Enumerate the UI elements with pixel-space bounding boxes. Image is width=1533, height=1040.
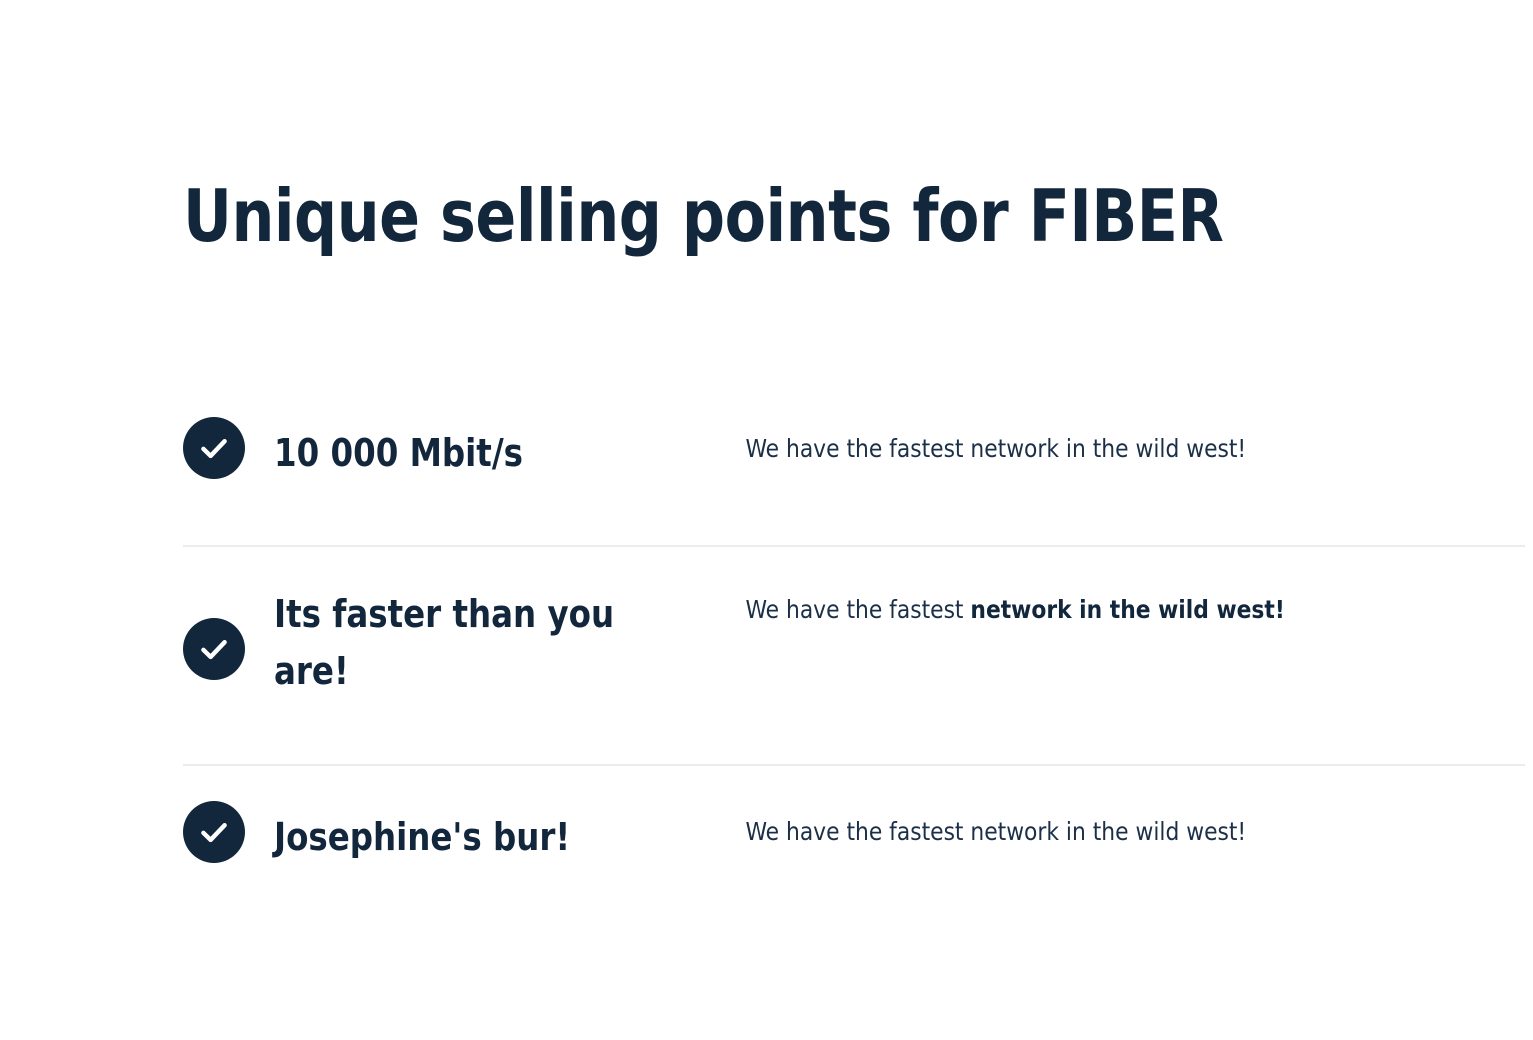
check-circle-icon — [183, 801, 245, 863]
usp-page: Unique selling points for FIBER 10 000 M… — [0, 0, 1533, 1040]
usp-description-text: We have the fastest — [745, 595, 970, 624]
usp-heading: 10 000 Mbit/s — [274, 415, 645, 482]
page-title: Unique selling points for FIBER — [183, 178, 1223, 256]
usp-description: We have the fastest network in the wild … — [664, 576, 1499, 627]
usp-description: We have the fastest network in the wild … — [664, 415, 1499, 466]
usp-description-emphasis: network in the wild west! — [970, 595, 1284, 624]
usp-description-text: We have the fastest network in the wild … — [745, 434, 1246, 463]
check-circle-icon — [183, 618, 245, 680]
usp-list: 10 000 Mbit/s We have the fastest networ… — [183, 390, 1525, 921]
usp-description: We have the fastest network in the wild … — [664, 799, 1499, 849]
usp-heading: Its faster than you are! — [274, 576, 645, 700]
list-item: Its faster than you are! We have the fas… — [183, 547, 1525, 764]
list-item: Josephine's bur! We have the fastest net… — [183, 766, 1525, 921]
list-item: 10 000 Mbit/s We have the fastest networ… — [183, 390, 1525, 545]
usp-description-text: We have the fastest network in the wild … — [745, 817, 1246, 846]
check-circle-icon — [183, 417, 245, 479]
usp-heading: Josephine's bur! — [274, 799, 645, 866]
